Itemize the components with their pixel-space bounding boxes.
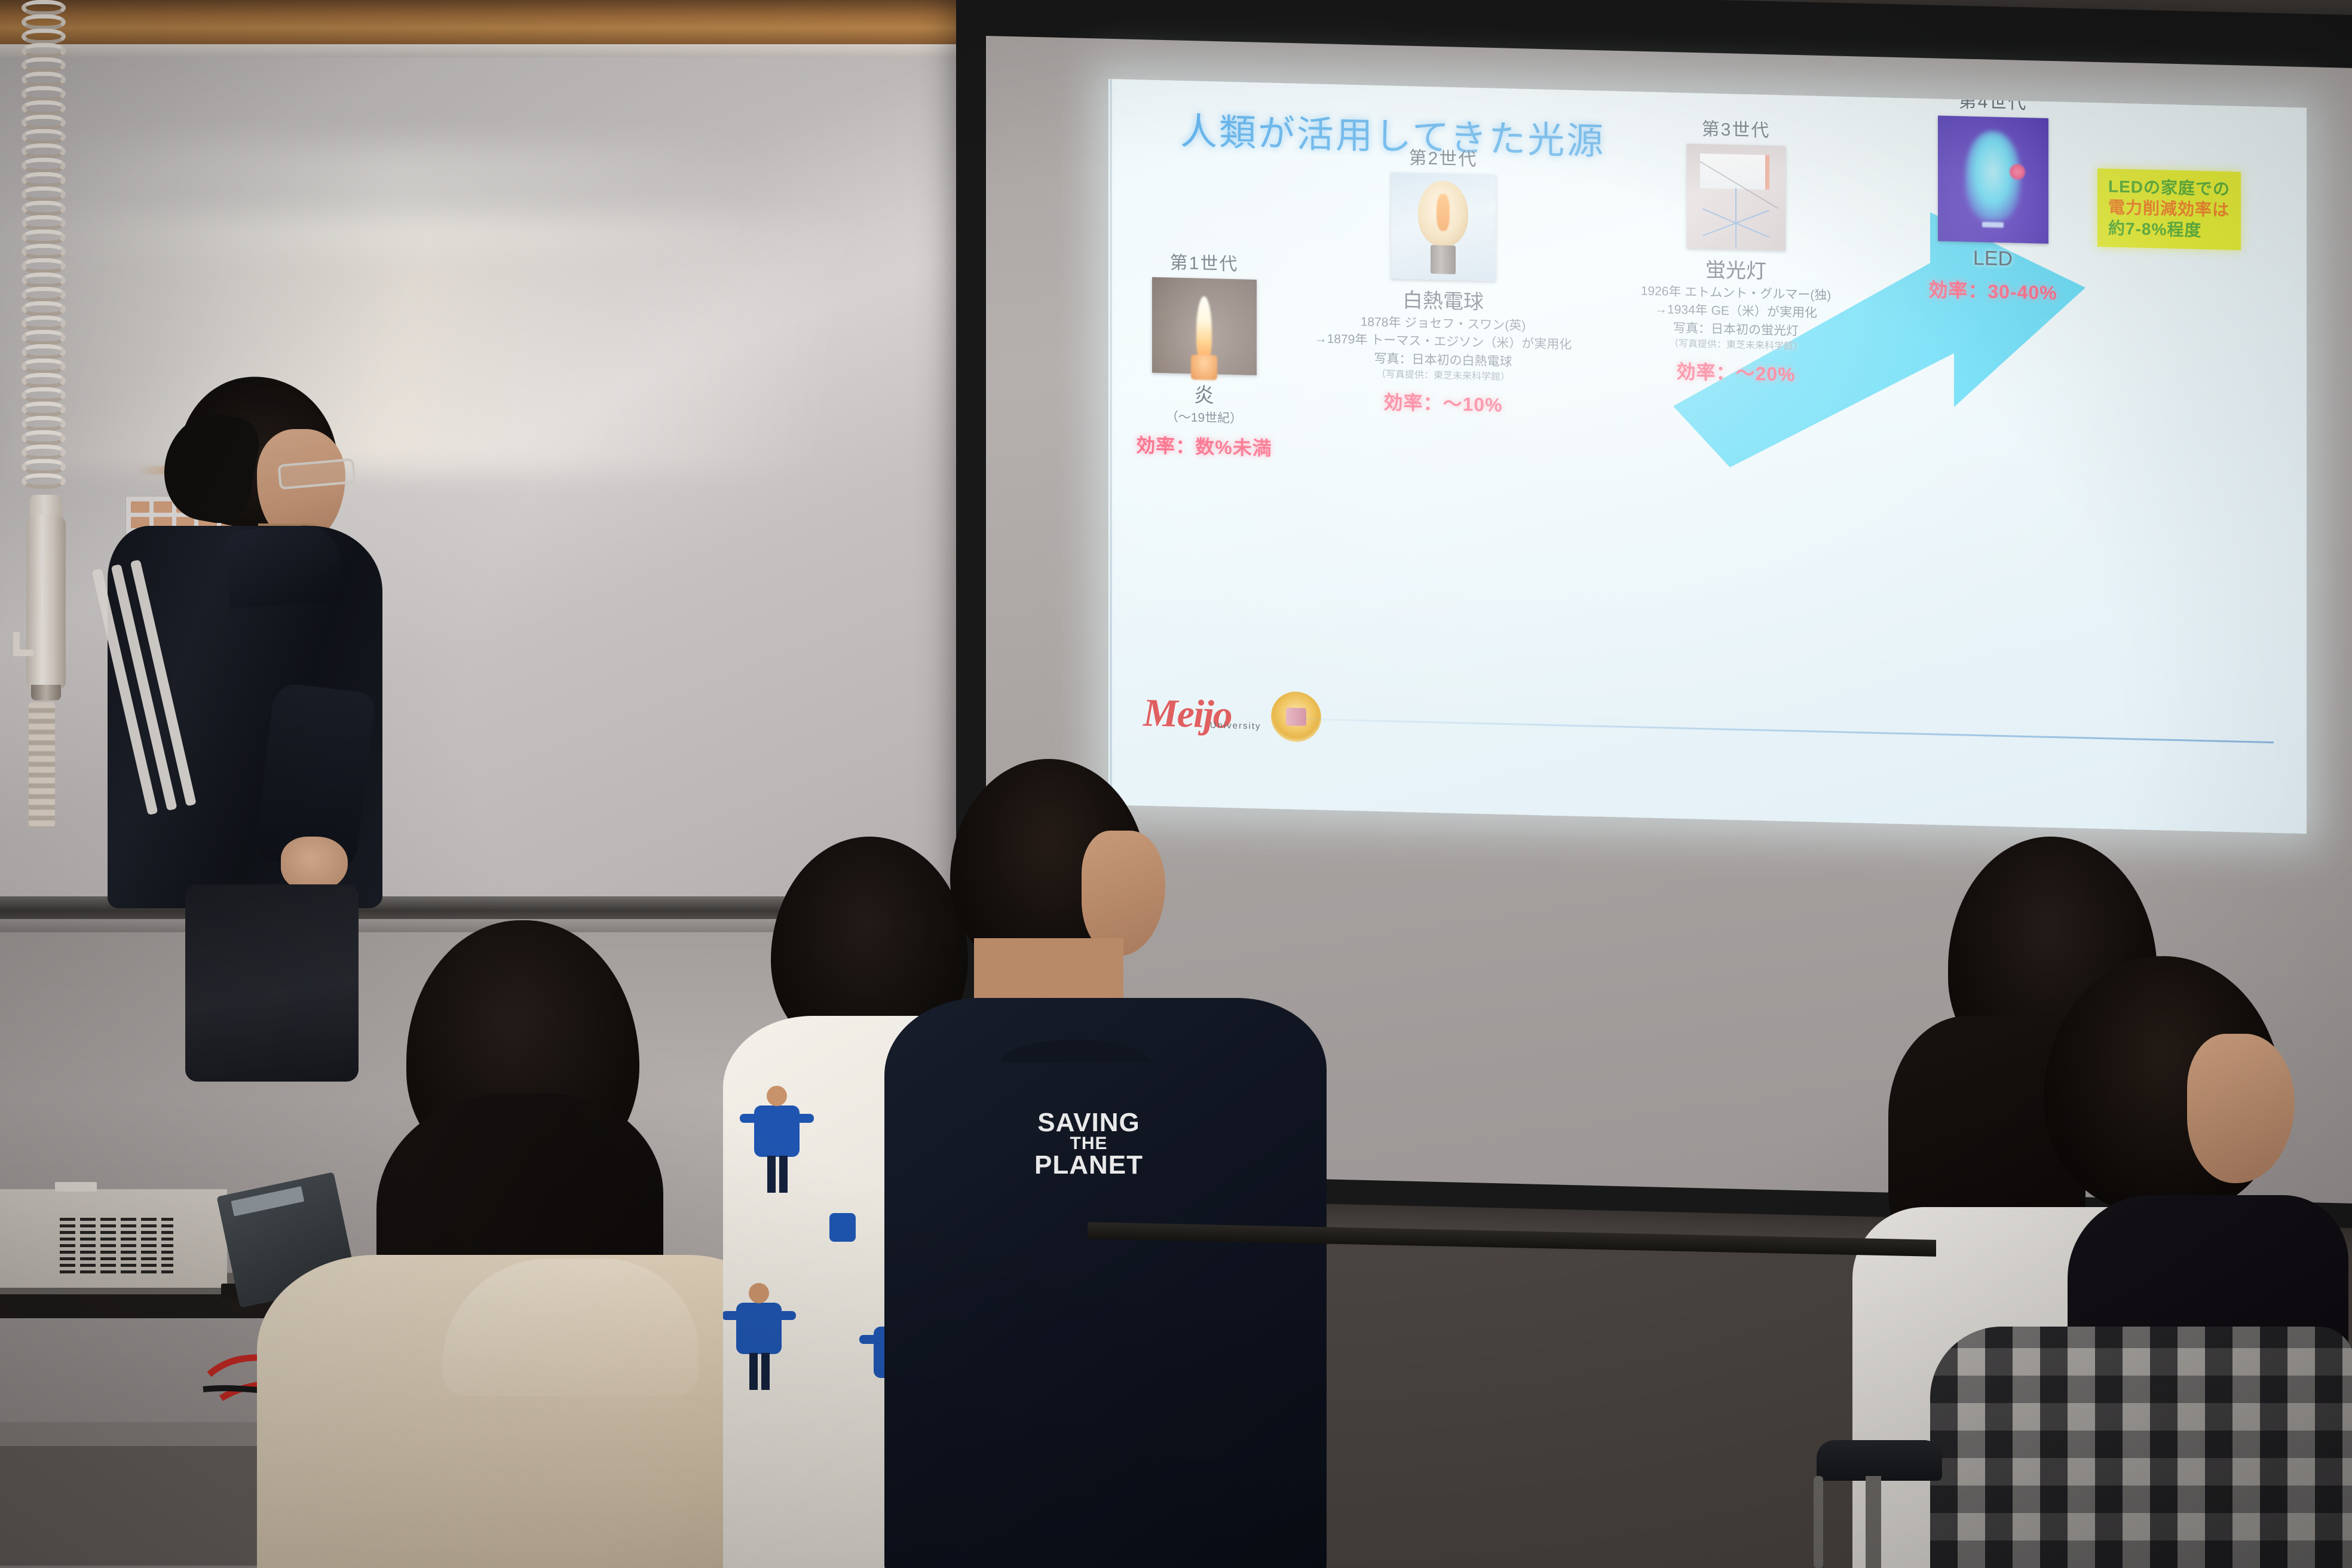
fluorescent-lamp-photo (1687, 143, 1786, 250)
telephone-cord-lower (29, 702, 55, 828)
handset-hook (13, 632, 33, 656)
telephone-cord: /*coils injected below*/ (22, 0, 66, 496)
cord-coil (22, 330, 66, 345)
bulb-screw-base (1431, 245, 1456, 274)
cord-coil (22, 373, 66, 388)
slide-left-border (1110, 79, 1112, 805)
generation-1-efficiency: 効率：数%未満 (1126, 430, 1282, 461)
cord-coil (22, 215, 66, 231)
cord-coil (22, 100, 66, 116)
led-savings-callout: LEDの家庭での 電力削減効率は 約7-8%程度 (2097, 169, 2241, 250)
cord-coil (22, 86, 66, 102)
generation-2: 第2世代 白熱電球 1878年 ジョセフ・スワン(英) →1879年 トーマス・… (1294, 140, 1592, 419)
student-saving-the-planet: SAVING THE PLANET (884, 759, 1327, 1568)
lamp-panel (1700, 154, 1769, 190)
led-indicator-dot (2010, 164, 2025, 180)
callout-line-3: 約7-8%程度 (2108, 218, 2230, 241)
whiteboard-glare-secondary (36, 143, 753, 251)
generation-4-name: LED (1903, 245, 2082, 272)
cord-coil (22, 387, 66, 403)
lab-stool-post (1866, 1476, 1881, 1568)
cord-coil (22, 301, 66, 317)
meijo-wordmark: Meijo (1143, 690, 1232, 738)
generation-1-period: （～19世紀） (1126, 408, 1282, 428)
cord-coil (22, 201, 66, 216)
incandescent-bulb-photo (1391, 172, 1496, 281)
lab-stool-seat[interactable] (1817, 1440, 1942, 1481)
trim-underline (0, 44, 980, 57)
shirt-graphic-text: SAVING THE PLANET (1023, 1110, 1154, 1187)
student-face-profile (1082, 831, 1165, 956)
shirt-text-subline (1023, 1181, 1154, 1187)
generation-2-efficiency: 効率：～10% (1294, 385, 1592, 419)
cord-coil (22, 172, 66, 188)
plaid-shirt (1930, 1327, 2352, 1568)
handset-body (26, 515, 66, 688)
cord-coil (22, 229, 66, 245)
cord-coil (22, 430, 66, 446)
ventilation-slots (60, 1214, 173, 1274)
ceiling-wood-trim (0, 0, 980, 47)
callout-line-2: 電力削減効率は (2108, 197, 2230, 220)
meijo-university-emblem (1271, 691, 1321, 743)
cord-coil (22, 459, 66, 474)
cord-coil (22, 416, 66, 431)
handset-mouthpiece (31, 685, 61, 700)
lamp-stand (1735, 188, 1737, 247)
cord-coil (22, 14, 66, 30)
cord-coil (22, 43, 66, 59)
student-right-plaid (1930, 1327, 2352, 1568)
cord-coil (22, 143, 66, 159)
footer-divider-line (1306, 718, 2274, 743)
cord-coil (22, 316, 66, 331)
cord-coil (22, 244, 66, 259)
lab-stool-leg (1814, 1476, 1823, 1568)
power-supply-unit[interactable] (0, 1189, 227, 1288)
callout-line-1: LEDの家庭での (2108, 176, 2230, 200)
candle-flame-photo (1152, 277, 1257, 375)
presentation-slide: 人類が活用してきた光源 第1世代 炎 （～19世紀） 効率：数%未満 第2世代 … (1108, 79, 2307, 834)
generation-1-header: 第1世代 (1126, 247, 1282, 277)
cord-coil (22, 272, 66, 288)
shirt-text-line-3: PLANET (1023, 1153, 1154, 1178)
unit-top-tab (55, 1182, 97, 1192)
generation-3-header: 第3世代 (1587, 111, 1885, 145)
generation-1-name: 炎 (1126, 377, 1282, 410)
generation-2-name: 白熱電球 (1294, 281, 1592, 317)
navy-tshirt (884, 998, 1327, 1568)
cord-coil (22, 402, 66, 417)
meijo-subtext: University (1210, 720, 1261, 731)
cord-coil (22, 72, 66, 87)
cord-coil (22, 445, 66, 460)
cord-coil (22, 186, 66, 202)
cord-coil (22, 158, 66, 173)
cord-coil (22, 29, 66, 44)
cord-coil (22, 0, 66, 16)
cord-coil (22, 258, 66, 274)
generation-3: 第3世代 蛍光灯 1926年 エトムント・グルマー(独) →1934年 GE（米… (1587, 111, 1885, 389)
cord-coil (22, 115, 66, 130)
shirt-text-line-1: SAVING (1023, 1110, 1154, 1135)
bulb-filament (1437, 194, 1450, 231)
jacket-collar (225, 523, 344, 609)
meijo-university-logo: Meijo University (1143, 688, 1321, 742)
cord-coil (22, 287, 66, 302)
generation-1: 第1世代 炎 （～19世紀） 効率：数%未満 (1126, 247, 1282, 462)
generation-4: 第4世代 LED 効率：30-40% (1903, 85, 2082, 306)
candle-wick-glow (1191, 354, 1217, 380)
cord-coil (22, 473, 66, 489)
wall-telephone-handset[interactable] (22, 495, 68, 710)
generation-3-efficiency: 効率：～20% (1587, 354, 1885, 389)
cord-coil (22, 344, 66, 360)
student-face-profile (2187, 1034, 2295, 1183)
generation-4-efficiency: 効率：30-40% (1903, 274, 2082, 306)
generation-3-name: 蛍光灯 (1587, 250, 1885, 287)
led-bulb-photo (1938, 115, 2048, 243)
cord-coil (22, 57, 66, 73)
led-base (1982, 222, 2004, 228)
cord-coil (22, 359, 66, 374)
classroom-lecture-photo: /*coils injected below*/ 人類が活用してきた光源 第1世… (0, 0, 2352, 1568)
cord-coil (22, 129, 66, 145)
